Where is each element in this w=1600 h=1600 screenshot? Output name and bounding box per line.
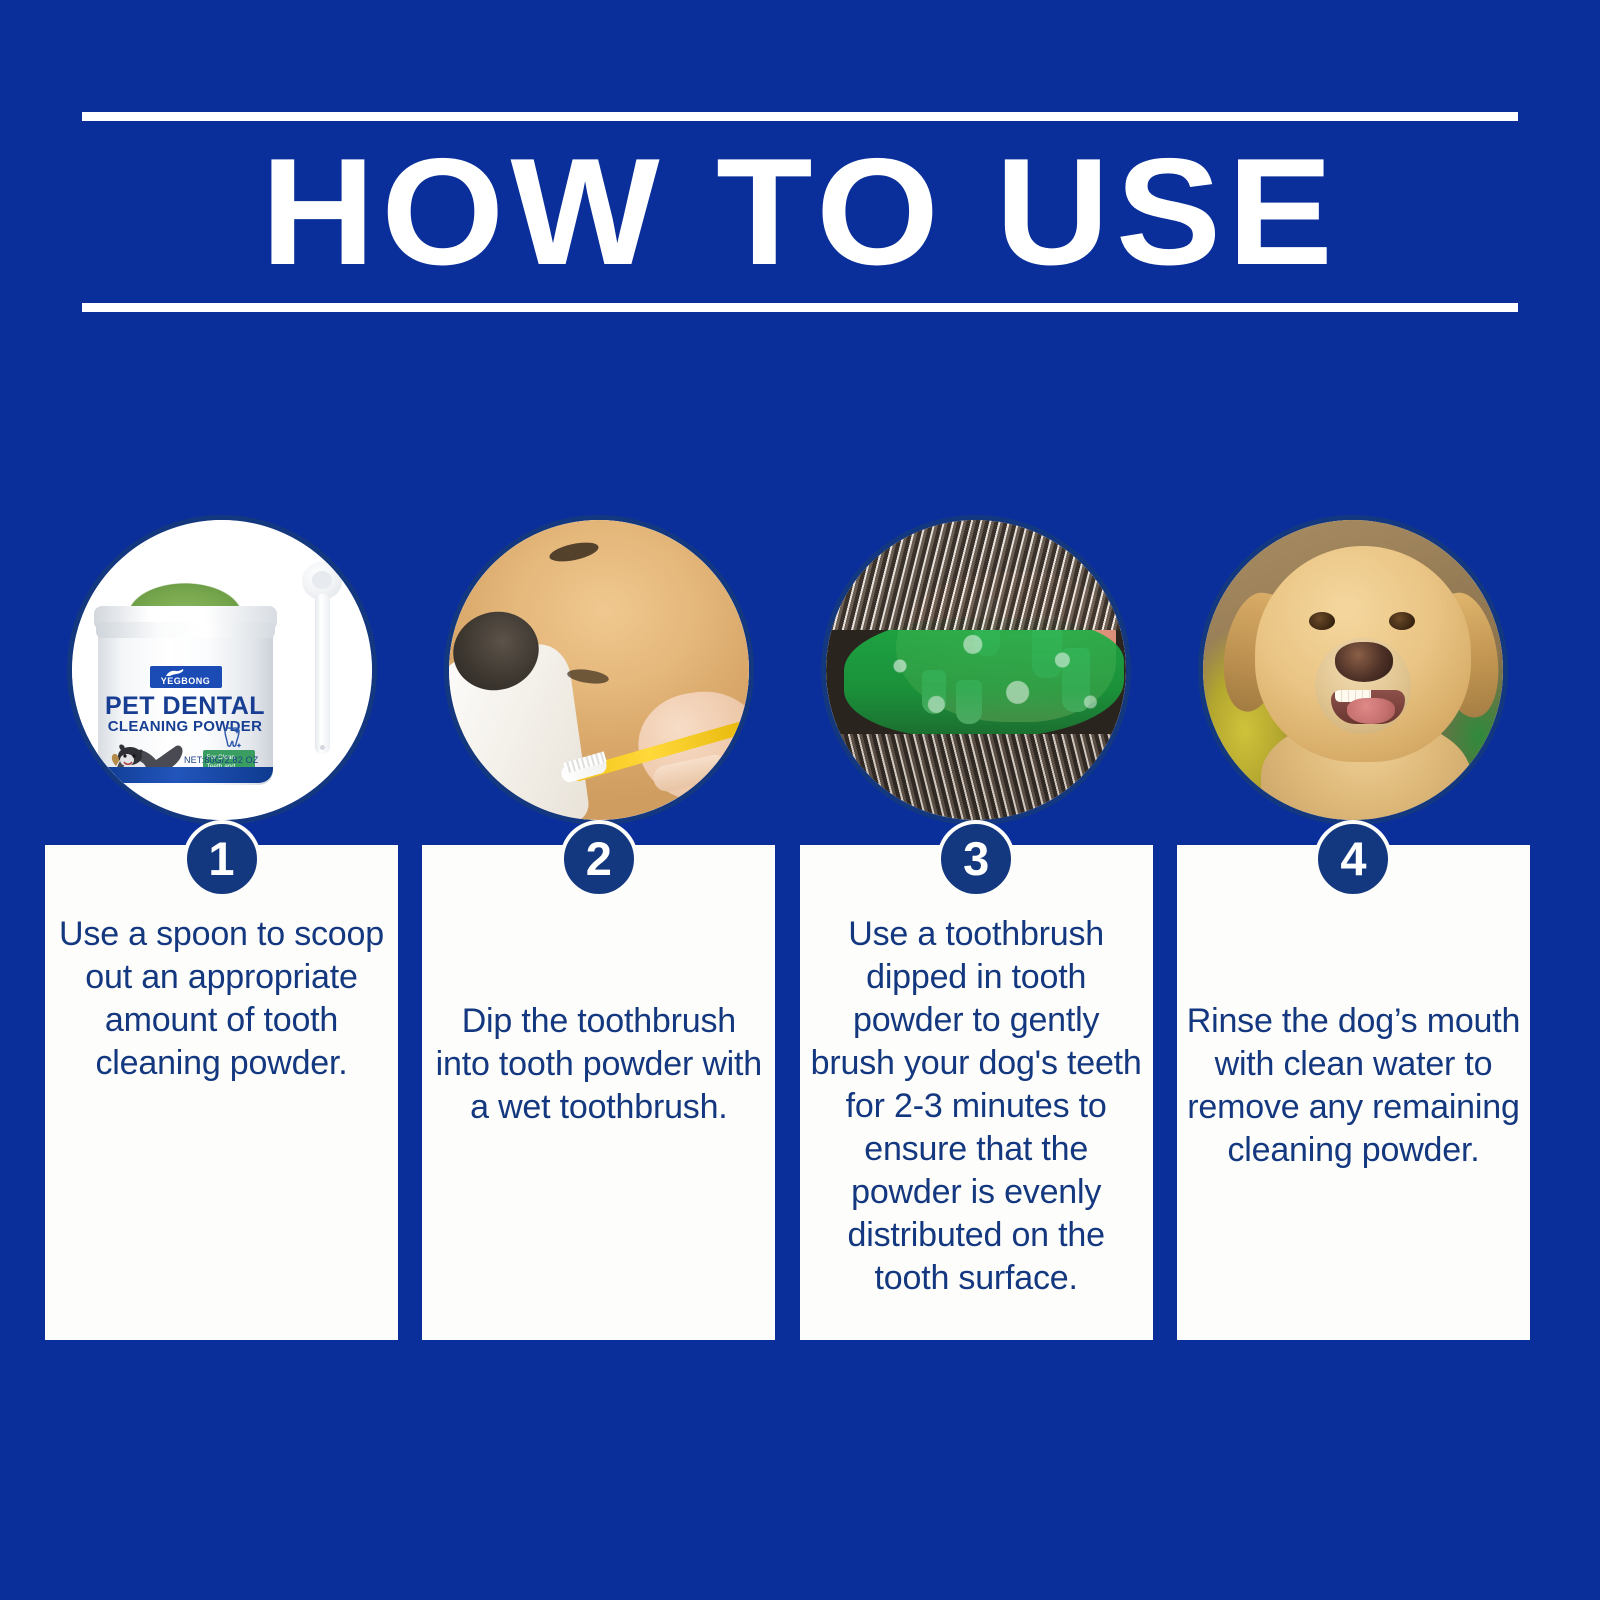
product-title: PET DENTAL bbox=[98, 692, 273, 721]
step-number-badge-3: 3 bbox=[937, 820, 1015, 898]
step-card-4: 4 Rinse the dog’s mouth with clean water… bbox=[1177, 515, 1530, 1340]
brand-logo-badge: YEGBONG bbox=[150, 666, 222, 688]
step-caption-3: Use a toothbrush dipped in tooth powder … bbox=[808, 913, 1145, 1300]
step-2-image-circle bbox=[444, 515, 754, 825]
title-rule-top bbox=[82, 112, 1518, 121]
dog-with-toothbrush-photo bbox=[449, 520, 749, 820]
jar-bottom-band bbox=[98, 767, 273, 783]
dog-upper-fur bbox=[826, 520, 1126, 630]
spoon-handle-hole bbox=[320, 745, 325, 750]
page-title: HOW TO USE bbox=[53, 121, 1546, 303]
tooth-icon bbox=[221, 726, 243, 750]
net-weight-text: NET:80G/2.82 OZ bbox=[184, 755, 259, 765]
step-4-image-circle bbox=[1198, 515, 1508, 825]
jar-rim-inner bbox=[96, 622, 275, 638]
step-caption-1: Use a spoon to scoop out an appropriate … bbox=[53, 913, 390, 1085]
product-subtitle: CLEANING POWDER bbox=[98, 718, 273, 735]
step-number-badge-2: 2 bbox=[560, 820, 638, 898]
dog-lower-fur bbox=[826, 734, 1126, 820]
dog-open-mouth bbox=[1331, 690, 1405, 724]
step-number-badge-4: 4 bbox=[1314, 820, 1392, 898]
measuring-spoon bbox=[302, 562, 342, 762]
green-foam bbox=[844, 618, 1124, 738]
title-rule-bottom bbox=[82, 303, 1518, 312]
step-1-image-circle: YEGBONG PET DENTAL CLEANING POWDER bbox=[67, 515, 377, 825]
page-header: HOW TO USE bbox=[82, 112, 1518, 312]
step-card-2: 2 Dip the toothbrush into tooth powder w… bbox=[422, 515, 775, 1340]
happy-labrador-photo bbox=[1203, 520, 1503, 820]
spoon-handle bbox=[315, 594, 330, 754]
step-caption-2: Dip the toothbrush into tooth powder wit… bbox=[430, 1000, 767, 1129]
jar-body: YEGBONG PET DENTAL CLEANING POWDER bbox=[98, 614, 273, 785]
step-card-3: 3 Use a toothbrush dipped in tooth powde… bbox=[800, 515, 1153, 1340]
dog-tongue bbox=[1347, 698, 1395, 724]
product-jar-and-spoon-photo: YEGBONG PET DENTAL CLEANING POWDER bbox=[72, 520, 372, 820]
step-3-image-circle bbox=[821, 515, 1131, 825]
steps-row: YEGBONG PET DENTAL CLEANING POWDER bbox=[45, 515, 1530, 1340]
dog-teeth-green-foam-photo bbox=[826, 520, 1126, 820]
step-number-badge-1: 1 bbox=[183, 820, 261, 898]
spoon-bowl-hollow bbox=[312, 571, 332, 589]
dog-silhouette-icon bbox=[164, 668, 190, 678]
step-card-1: YEGBONG PET DENTAL CLEANING POWDER bbox=[45, 515, 398, 1340]
step-caption-4: Rinse the dog’s mouth with clean water t… bbox=[1185, 1000, 1522, 1172]
product-jar: YEGBONG PET DENTAL CLEANING POWDER bbox=[98, 600, 273, 785]
